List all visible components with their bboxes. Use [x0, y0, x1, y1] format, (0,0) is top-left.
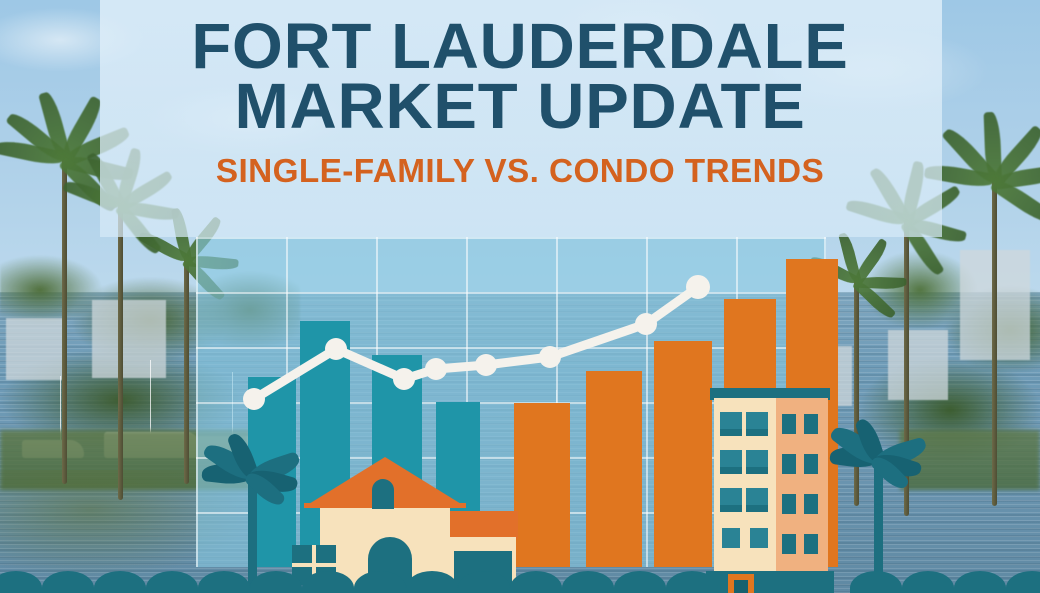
trend-point-5 — [475, 354, 497, 376]
headline-block: FORT LAUDERDALE MARKET UPDATE SINGLE-FAM… — [0, 0, 1040, 190]
wave-scallop — [850, 571, 902, 593]
wave-scallop — [666, 571, 718, 593]
background-mast — [150, 360, 151, 434]
condo-building-illustration — [706, 388, 834, 593]
wave-scallop — [562, 571, 614, 593]
condo-window — [722, 528, 740, 548]
wave-scallop — [42, 571, 94, 593]
condo-window — [804, 534, 818, 554]
wave-scallop — [902, 571, 954, 593]
wave-scallop — [94, 571, 146, 593]
condo-balcony — [746, 488, 768, 512]
condo-balcony — [746, 412, 768, 436]
trend-point-1 — [243, 388, 265, 410]
poster-canvas: FORT LAUDERDALE MARKET UPDATE SINGLE-FAM… — [0, 0, 1040, 593]
condo-window — [804, 414, 818, 434]
wave-scallop — [302, 571, 354, 593]
condo-balcony — [720, 412, 742, 436]
trend-line-path — [254, 287, 698, 399]
title-line-1: FORT LAUDERDALE — [0, 0, 1040, 76]
title-line-2: MARKET UPDATE — [0, 76, 1040, 136]
wave-scallop — [146, 571, 198, 593]
background-building — [888, 330, 948, 400]
condo-window — [782, 454, 796, 474]
condo-window — [750, 528, 768, 548]
wave-scallop — [510, 571, 562, 593]
trend-point-7 — [635, 313, 657, 335]
trend-point-8 — [686, 275, 710, 299]
wave-scallop — [354, 571, 406, 593]
wave-scallop — [614, 571, 666, 593]
trend-point-6 — [539, 346, 561, 368]
wave-scallop — [458, 571, 510, 593]
condo-balcony — [746, 450, 768, 474]
condo-window — [804, 454, 818, 474]
trend-point-3 — [393, 368, 415, 390]
wave-scallop — [406, 571, 458, 593]
condo-window — [782, 414, 796, 434]
poster-subtitle: SINGLE-FAMILY VS. CONDO TRENDS — [0, 152, 1040, 190]
trend-point-4 — [425, 358, 447, 380]
background-building — [6, 318, 66, 380]
wave-scallop — [0, 571, 42, 593]
wave-scallop — [250, 571, 302, 593]
condo-window — [782, 534, 796, 554]
condo-window — [782, 494, 796, 514]
attic-window — [372, 479, 394, 509]
wave-scallop — [198, 571, 250, 593]
background-building — [92, 300, 166, 378]
condo-balcony — [720, 488, 742, 512]
condo-balcony — [720, 450, 742, 474]
wave-band — [0, 567, 1040, 593]
wave-scallop — [1006, 571, 1040, 593]
condo-window — [804, 494, 818, 514]
trend-point-2 — [325, 338, 347, 360]
wave-scallop — [954, 571, 1006, 593]
